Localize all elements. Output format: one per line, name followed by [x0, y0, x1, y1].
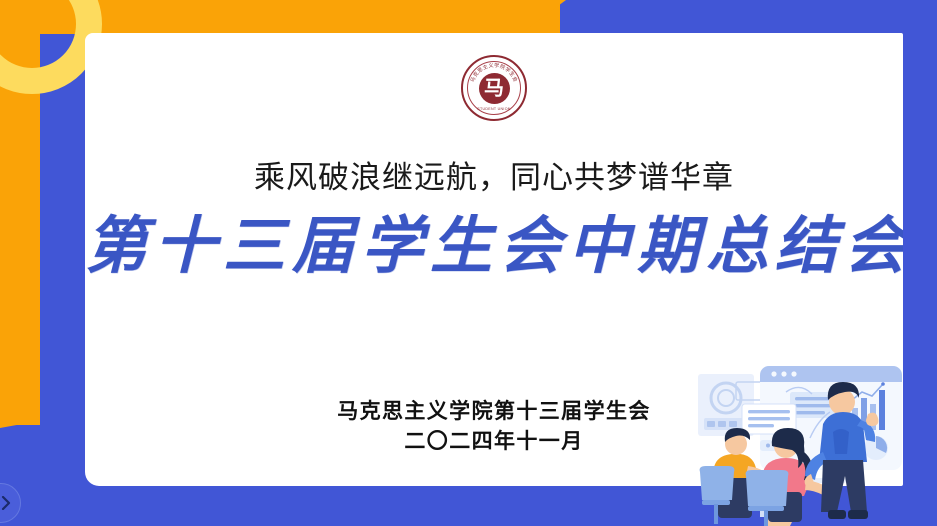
team-meeting-illustration [690, 352, 937, 526]
crest-sub-label: STUDENT UNION [477, 107, 510, 111]
university-crest-icon: 马克思主义学院学生会 马 STUDENT UNION [461, 55, 527, 121]
illustration-svg [690, 352, 937, 526]
slide-main-title: 第十三届学生会中期总结会 [85, 210, 903, 281]
emblem-container: 马克思主义学院学生会 马 STUDENT UNION [85, 55, 903, 121]
presentation-slide: 马克思主义学院学生会 马 STUDENT UNION 乘风破浪继远航，同心共梦谱… [0, 0, 937, 526]
crest-center: 马 [479, 73, 510, 104]
orange-left-band-foot [0, 412, 40, 428]
crest-center-glyph: 马 [484, 78, 504, 98]
chevron-right-icon [1, 496, 12, 510]
slide-subtitle: 乘风破浪继远航，同心共梦谱华章 [85, 160, 903, 197]
